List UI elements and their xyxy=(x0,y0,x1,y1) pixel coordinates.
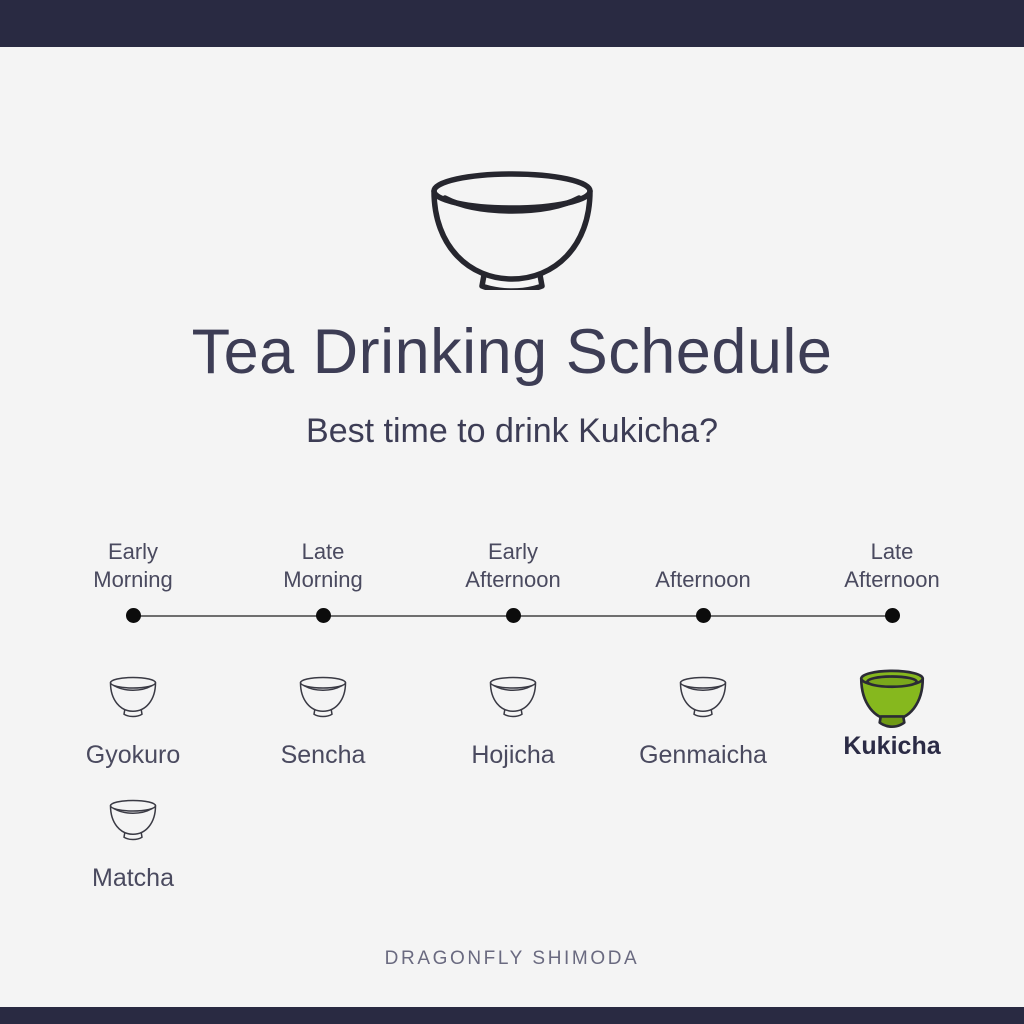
tea-bowl-icon xyxy=(228,672,418,734)
tea-bowl-icon xyxy=(38,672,228,734)
tea-bowl-icon xyxy=(418,672,608,734)
tea-label: Sencha xyxy=(228,740,418,770)
tea-item-gyokuro[interactable]: Gyokuro xyxy=(38,672,228,770)
top-band xyxy=(0,0,1024,47)
tea-item-sencha[interactable]: Sencha xyxy=(228,672,418,770)
timeline-dot-2[interactable] xyxy=(506,608,521,623)
poster-canvas: Tea Drinking Schedule Best time to drink… xyxy=(0,0,1024,1024)
tea-item-matcha[interactable]: Matcha xyxy=(38,795,228,893)
timeline-label-0: Early Morning xyxy=(38,538,228,594)
timeline-slot-2[interactable]: Early Afternoon xyxy=(418,536,608,628)
timeline-dot-3[interactable] xyxy=(696,608,711,623)
tea-item-kukicha[interactable]: Kukicha xyxy=(797,672,987,761)
timeline-dot-1[interactable] xyxy=(316,608,331,623)
tea-bowl-icon xyxy=(38,795,228,857)
bottom-band xyxy=(0,1007,1024,1024)
footer-credit: DRAGONFLY SHIMODA xyxy=(0,948,1024,970)
timeline-label-line2: Afternoon xyxy=(844,567,939,592)
timeline-label-3: Afternoon xyxy=(608,538,798,594)
tea-item-genmaicha[interactable]: Genmaicha xyxy=(608,672,798,770)
timeline-label-2: Early Afternoon xyxy=(418,538,608,594)
timeline-dot-0[interactable] xyxy=(126,608,141,623)
timeline-label-line2: Afternoon xyxy=(655,567,750,592)
timeline-label-4: Late Afternoon xyxy=(797,538,987,594)
timeline-slot-4[interactable]: Late Afternoon xyxy=(797,536,987,628)
tea-bowl-icon xyxy=(608,672,798,734)
timeline-slot-3[interactable]: Afternoon xyxy=(608,536,798,628)
timeline-label-line1: Early xyxy=(108,539,158,564)
timeline-label-1: Late Morning xyxy=(228,538,418,594)
timeline-label-line2: Morning xyxy=(283,567,362,592)
timeline-slot-0[interactable]: Early Morning xyxy=(38,536,228,628)
tea-bowl-icon-filled xyxy=(797,663,987,725)
tea-label: Matcha xyxy=(38,863,228,893)
timeline-label-line1: Early xyxy=(488,539,538,564)
tea-label: Genmaicha xyxy=(608,740,798,770)
timeline-label-line2: Morning xyxy=(93,567,172,592)
timeline-label-line1: Late xyxy=(871,539,914,564)
timeline-label-line2: Afternoon xyxy=(465,567,560,592)
tea-bowl-icon xyxy=(422,155,602,290)
tea-label: Kukicha xyxy=(797,731,987,761)
tea-label: Hojicha xyxy=(418,740,608,770)
page-title: Tea Drinking Schedule xyxy=(0,318,1024,387)
timeline-label-line1: Late xyxy=(302,539,345,564)
timeline-slot-1[interactable]: Late Morning xyxy=(228,536,418,628)
timeline-dot-4[interactable] xyxy=(885,608,900,623)
tea-label: Gyokuro xyxy=(38,740,228,770)
timeline: Early Morning Late Morning Early Afterno… xyxy=(0,536,1024,628)
page-subtitle: Best time to drink Kukicha? xyxy=(0,410,1024,453)
tea-item-hojicha[interactable]: Hojicha xyxy=(418,672,608,770)
